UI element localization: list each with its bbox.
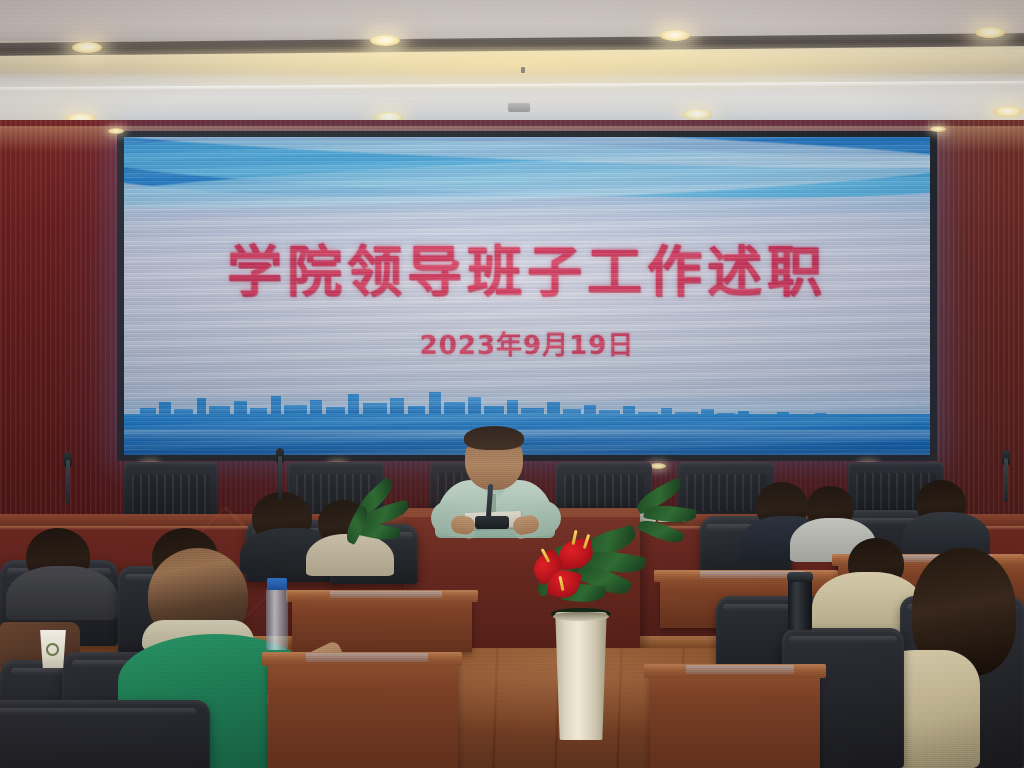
wall-accent-light xyxy=(930,126,946,132)
ceiling-sprinkler-icon xyxy=(521,67,525,73)
ceiling-vent-icon xyxy=(508,103,530,112)
led-video-wall[interactable]: 学院领导班子工作述职 2023年9月19日 xyxy=(117,131,937,461)
desk-microphone[interactable] xyxy=(1004,450,1009,502)
ceiling-downlight xyxy=(370,35,400,46)
slide-date: 2023年9月19日 xyxy=(124,325,930,362)
led-screen-surface: 学院领导班子工作述职 2023年9月19日 xyxy=(124,137,930,455)
cup-logo-icon xyxy=(46,643,59,656)
thermos-cap xyxy=(787,572,813,582)
planter-rim xyxy=(553,612,609,621)
audience-desk xyxy=(292,596,472,652)
attendee-torso xyxy=(6,566,118,620)
side-plant-leaves xyxy=(330,490,410,560)
desk-glass-insert xyxy=(306,653,428,662)
audience-desk xyxy=(268,660,458,768)
desk-microphone[interactable] xyxy=(66,452,71,504)
ceiling-downlight xyxy=(975,27,1005,38)
speaker-hair xyxy=(464,426,524,450)
wall-accent-light xyxy=(108,128,124,134)
ceiling-downlight xyxy=(72,42,102,53)
black-thermos xyxy=(788,578,812,630)
ceiling-downlight xyxy=(682,109,712,120)
audience-desk xyxy=(650,672,820,768)
head-table-chair[interactable] xyxy=(124,462,218,518)
conference-room-photo: 学院领导班子工作述职 2023年9月19日 xyxy=(0,0,1024,768)
floor-planter xyxy=(553,612,609,740)
ceiling-downlight xyxy=(993,106,1023,117)
desk-glass-insert xyxy=(686,665,794,674)
presenting-official xyxy=(435,428,555,528)
slide-title: 学院领导班子工作述职 xyxy=(124,245,930,300)
desk-microphone[interactable] xyxy=(278,448,283,500)
microphone-base xyxy=(475,516,509,529)
audience-chair[interactable] xyxy=(0,700,210,768)
plastic-water-bottle xyxy=(266,588,288,650)
bottle-cap xyxy=(267,578,287,590)
desk-glass-insert xyxy=(330,591,442,598)
ceiling-downlight xyxy=(660,30,690,41)
